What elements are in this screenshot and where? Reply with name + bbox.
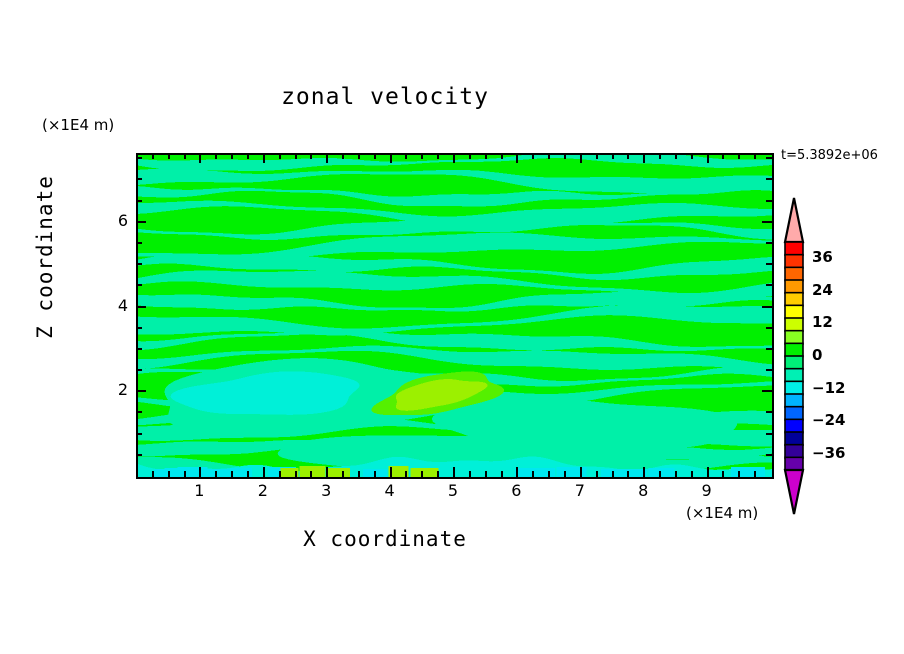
x-axis-minor-tick (659, 471, 661, 477)
x-axis-minor-tick-top (231, 153, 233, 159)
x-axis-tick-label: 4 (375, 481, 405, 500)
x-axis-title: X coordinate (0, 527, 770, 551)
x-axis-minor-tick (738, 471, 740, 477)
x-axis-minor-tick-top (691, 153, 693, 159)
x-axis-minor-tick (722, 471, 724, 477)
y-axis-major-tick (136, 221, 146, 223)
colorbar-tick-label: 0 (812, 346, 822, 364)
y-axis-title: Z coordinate (33, 157, 57, 357)
x-axis-minor-tick (152, 471, 154, 477)
y-axis-major-tick-right (762, 306, 772, 308)
y-axis-minor-tick (136, 242, 142, 244)
x-axis-major-tick-top (453, 153, 455, 163)
time-stamp-label: t=5.3892e+06 (781, 148, 878, 163)
x-axis-minor-tick (310, 471, 312, 477)
y-axis-minor-tick (136, 200, 142, 202)
y-axis-minor-tick (136, 454, 142, 456)
x-axis-tick-label: 8 (628, 481, 658, 500)
y-axis-major-tick (136, 390, 146, 392)
x-axis-minor-tick (691, 471, 693, 477)
x-axis-minor-tick (184, 471, 186, 477)
y-axis-minor-tick-right (766, 284, 772, 286)
y-axis-minor-tick-right (766, 369, 772, 371)
y-axis-minor-tick-right (766, 454, 772, 456)
x-axis-major-tick-top (263, 153, 265, 163)
x-axis-unit-label: (×1E4 m) (686, 504, 758, 522)
x-axis-minor-tick (469, 471, 471, 477)
x-axis-minor-tick (215, 471, 217, 477)
y-axis-minor-tick (136, 178, 142, 180)
y-axis-minor-tick-right (766, 242, 772, 244)
y-axis-minor-tick (136, 348, 142, 350)
x-axis-minor-tick (754, 471, 756, 477)
x-axis-minor-tick-top (342, 153, 344, 159)
x-axis-minor-tick-top (279, 153, 281, 159)
colorbar-tick-label: −24 (812, 411, 845, 429)
x-axis-minor-tick-top (295, 153, 297, 159)
x-axis-minor-tick-top (184, 153, 186, 159)
y-axis-minor-tick-right (766, 433, 772, 435)
x-axis-minor-tick (612, 471, 614, 477)
x-axis-minor-tick-top (168, 153, 170, 159)
x-axis-minor-tick-top (215, 153, 217, 159)
y-axis-minor-tick (136, 327, 142, 329)
x-axis-minor-tick-top (310, 153, 312, 159)
x-axis-major-tick-top (707, 153, 709, 163)
x-axis-major-tick (326, 467, 328, 477)
y-axis-minor-tick (136, 369, 142, 371)
y-axis-minor-tick-right (766, 178, 772, 180)
x-axis-minor-tick-top (754, 153, 756, 159)
y-axis-major-tick-right (762, 390, 772, 392)
y-axis-minor-tick-right (766, 157, 772, 159)
x-axis-major-tick-top (199, 153, 201, 163)
x-axis-minor-tick (564, 471, 566, 477)
page-title: zonal velocity (0, 84, 770, 110)
y-axis-major-tick (136, 306, 146, 308)
x-axis-minor-tick-top (247, 153, 249, 159)
colorbar-tick-label: −12 (812, 379, 845, 397)
x-axis-minor-tick (374, 471, 376, 477)
x-axis-minor-tick (247, 471, 249, 477)
x-axis-tick-label: 7 (565, 481, 595, 500)
x-axis-major-tick (516, 467, 518, 477)
x-axis-major-tick (199, 467, 201, 477)
x-axis-tick-label: 5 (438, 481, 468, 500)
x-axis-major-tick-top (326, 153, 328, 163)
x-axis-major-tick-top (516, 153, 518, 163)
x-axis-minor-tick (168, 471, 170, 477)
x-axis-tick-label: 2 (248, 481, 278, 500)
x-axis-minor-tick-top (152, 153, 154, 159)
y-axis-major-tick-right (762, 221, 772, 223)
y-axis-minor-tick (136, 263, 142, 265)
x-axis-minor-tick-top (405, 153, 407, 159)
x-axis-tick-label: 6 (501, 481, 531, 500)
x-axis-tick-label: 1 (184, 481, 214, 500)
y-axis-minor-tick (136, 157, 142, 159)
x-axis-minor-tick-top (659, 153, 661, 159)
x-axis-minor-tick-top (627, 153, 629, 159)
x-axis-minor-tick (596, 471, 598, 477)
colorbar-tick-label: 24 (812, 281, 833, 299)
y-axis-minor-tick (136, 284, 142, 286)
x-axis-major-tick (263, 467, 265, 477)
colorbar-tick-label: 12 (812, 313, 833, 331)
y-axis-minor-tick (136, 433, 142, 435)
x-axis-major-tick (707, 467, 709, 477)
x-axis-minor-tick-top (437, 153, 439, 159)
x-axis-minor-tick-top (469, 153, 471, 159)
x-axis-minor-tick (405, 471, 407, 477)
colorbar (782, 196, 806, 516)
y-axis-minor-tick (136, 411, 142, 413)
x-axis-minor-tick-top (421, 153, 423, 159)
x-axis-major-tick-top (580, 153, 582, 163)
contour-plot-figure: zonal velocity (×1E4 m) t=5.3892e+06 123… (0, 0, 904, 654)
x-axis-minor-tick (485, 471, 487, 477)
x-axis-minor-tick-top (485, 153, 487, 159)
x-axis-minor-tick-top (738, 153, 740, 159)
x-axis-minor-tick (279, 471, 281, 477)
y-axis-tick-label: 2 (98, 380, 128, 399)
x-axis-minor-tick (548, 471, 550, 477)
x-axis-tick-label: 9 (692, 481, 722, 500)
x-axis-minor-tick-top (548, 153, 550, 159)
x-axis-minor-tick (501, 471, 503, 477)
x-axis-major-tick-top (390, 153, 392, 163)
x-axis-minor-tick (532, 471, 534, 477)
y-axis-minor-tick-right (766, 327, 772, 329)
x-axis-minor-tick (675, 471, 677, 477)
x-axis-minor-tick-top (532, 153, 534, 159)
velocity-field-heatmap (138, 155, 772, 477)
x-axis-minor-tick (627, 471, 629, 477)
x-axis-minor-tick-top (358, 153, 360, 159)
plot-area (136, 153, 774, 479)
x-axis-major-tick (580, 467, 582, 477)
y-axis-minor-tick-right (766, 411, 772, 413)
x-axis-minor-tick (342, 471, 344, 477)
y-axis-minor-tick-right (766, 263, 772, 265)
x-axis-minor-tick-top (596, 153, 598, 159)
y-axis-unit-label: (×1E4 m) (42, 116, 114, 134)
x-axis-major-tick (453, 467, 455, 477)
x-axis-major-tick (390, 467, 392, 477)
x-axis-minor-tick-top (612, 153, 614, 159)
x-axis-minor-tick-top (374, 153, 376, 159)
x-axis-major-tick-top (643, 153, 645, 163)
x-axis-minor-tick-top (501, 153, 503, 159)
y-axis-minor-tick-right (766, 200, 772, 202)
y-axis-tick-label: 6 (98, 211, 128, 230)
x-axis-minor-tick (437, 471, 439, 477)
x-axis-tick-label: 3 (311, 481, 341, 500)
x-axis-major-tick (643, 467, 645, 477)
colorbar-tick-label: −36 (812, 444, 845, 462)
x-axis-minor-tick (421, 471, 423, 477)
x-axis-minor-tick (358, 471, 360, 477)
colorbar-tick-label: 36 (812, 248, 833, 266)
x-axis-minor-tick (231, 471, 233, 477)
y-axis-tick-label: 4 (98, 296, 128, 315)
y-axis-minor-tick-right (766, 348, 772, 350)
x-axis-minor-tick (295, 471, 297, 477)
x-axis-minor-tick-top (564, 153, 566, 159)
x-axis-minor-tick-top (722, 153, 724, 159)
x-axis-minor-tick-top (675, 153, 677, 159)
colorbar-gradient (782, 196, 806, 516)
